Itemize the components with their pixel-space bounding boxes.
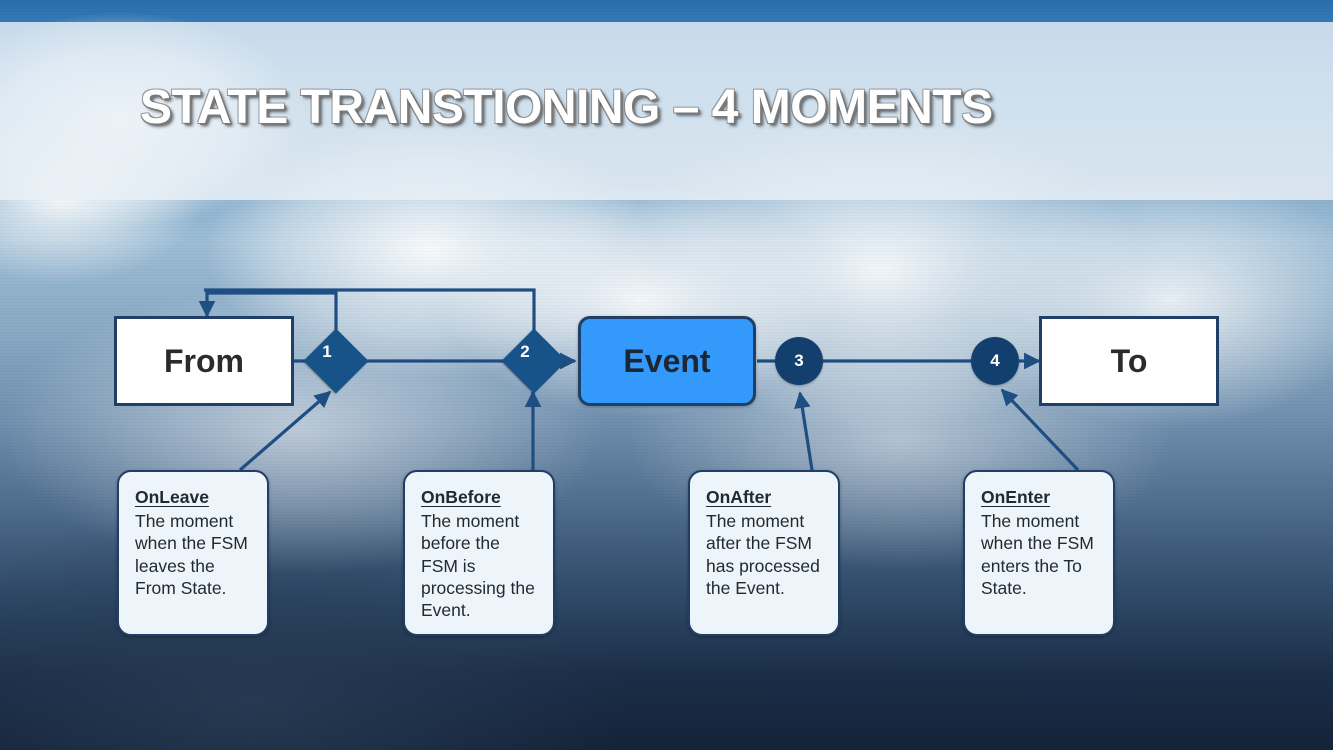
moment-marker-4-label: 4: [990, 351, 999, 371]
event-node[interactable]: Event: [578, 316, 756, 406]
callout-onleave-text: The moment when the FSM leaves the From …: [135, 510, 255, 599]
callout-onbefore-title: OnBefore: [421, 486, 501, 508]
moment-marker-1-label: 1: [322, 342, 368, 362]
state-node-from-label: From: [164, 343, 244, 380]
callout-onleave-title: OnLeave: [135, 486, 209, 508]
diamond-icon: 2: [501, 328, 566, 393]
state-transition-diagram: From Event To 1 2 3 4 OnLeave: [0, 0, 1333, 750]
moment-marker-3-label: 3: [794, 351, 803, 371]
callout-onafter[interactable]: OnAfter The moment after the FSM has pro…: [688, 470, 840, 636]
callout-onafter-title: OnAfter: [706, 486, 771, 508]
state-node-to-label: To: [1111, 343, 1148, 380]
callout-onleave[interactable]: OnLeave The moment when the FSM leaves t…: [117, 470, 269, 636]
state-node-to[interactable]: To: [1039, 316, 1219, 406]
event-node-label: Event: [623, 343, 710, 380]
moment-marker-3[interactable]: 3: [775, 337, 823, 385]
callout-onenter-text: The moment when the FSM enters the To St…: [981, 510, 1101, 599]
diamond-icon: 1: [303, 328, 368, 393]
moment-marker-2[interactable]: 2: [511, 338, 557, 384]
state-node-from[interactable]: From: [114, 316, 294, 406]
callout-onenter[interactable]: OnEnter The moment when the FSM enters t…: [963, 470, 1115, 636]
callout-onafter-text: The moment after the FSM has processed t…: [706, 510, 826, 599]
moment-marker-2-label: 2: [520, 342, 566, 362]
moment-marker-4[interactable]: 4: [971, 337, 1019, 385]
slide: STATE TRANSTIONING – 4 MOMENTS: [0, 0, 1333, 750]
callout-onbefore-text: The moment before the FSM is processing …: [421, 510, 541, 621]
callout-onbefore[interactable]: OnBefore The moment before the FSM is pr…: [403, 470, 555, 636]
callout-onenter-title: OnEnter: [981, 486, 1050, 508]
moment-marker-1[interactable]: 1: [313, 338, 359, 384]
